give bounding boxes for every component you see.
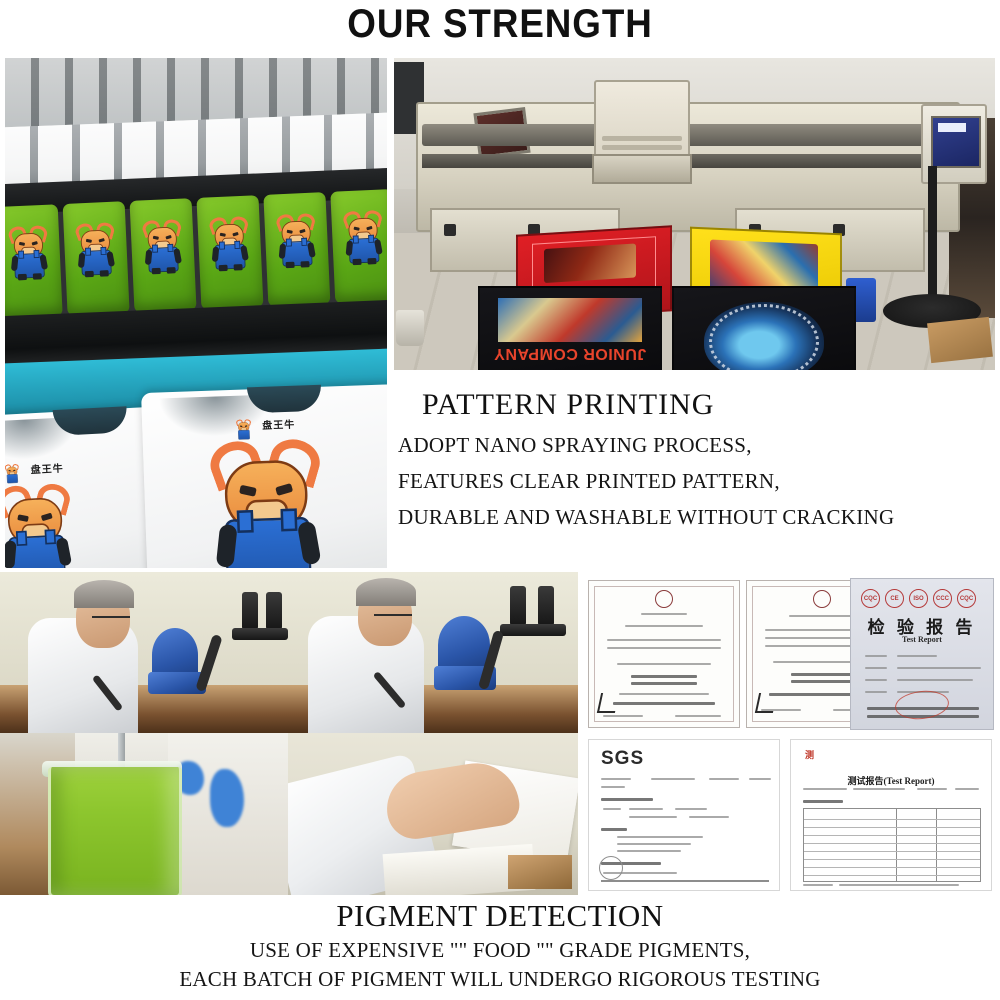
green-platen: [129, 198, 196, 313]
test-report-title-en: Test Report: [851, 635, 993, 644]
platen-shirt-sharks: SHARKS: [672, 286, 856, 370]
pattern-printing-line-2: FEATURES CLEAR PRINTED PATTERN,: [398, 469, 998, 494]
sgs-logo: SGS: [601, 748, 644, 770]
bull-mascot-icon: [275, 213, 318, 268]
badge-cqc-icon: CQC: [861, 589, 880, 608]
green-platen: [196, 195, 263, 310]
bull-mascot-icon: 盘王牛: [207, 439, 327, 568]
bull-mascot-icon: [74, 222, 117, 277]
blue-object: [210, 769, 244, 827]
pattern-printing-line-1: ADOPT NANO SPRAYING PROCESS,: [398, 433, 998, 458]
lab-rail: [232, 628, 288, 640]
lab-fixture: [510, 586, 526, 626]
screen-printing-carousel-photo: 盘王牛 盘王牛: [5, 58, 387, 568]
certificates-panel: CQC CE ISO CCC CQC 检 验 报 告 Test Report: [580, 572, 1000, 734]
shirt-brand-strip: 盘王牛: [10, 460, 64, 478]
cardboard-box: [927, 317, 993, 363]
pigment-detection-line-1: USE OF EXPENSIVE "" FOOD "" GRADE PIGMEN…: [0, 938, 1000, 963]
badge-iso-icon: ISO: [909, 589, 928, 608]
hd-logo-mark: 测: [805, 750, 814, 760]
pigment-detection-block: PIGMENT DETECTION USE OF EXPENSIVE "" FO…: [0, 898, 1000, 992]
green-platen: [263, 192, 330, 307]
green-platen: [330, 189, 387, 304]
lab-technician-right-photo: [288, 572, 578, 734]
pigment-detection-heading: PIGMENT DETECTION: [0, 898, 1000, 934]
badge-ccc-icon: CCC: [933, 589, 952, 608]
hd-report-title: 测试报告(Test Report): [791, 774, 991, 787]
pigment-beaker: [48, 767, 182, 895]
pattern-printing-heading: PATTERN PRINTING: [398, 388, 998, 422]
technician-glasses: [374, 614, 412, 623]
junior-artwork: [498, 298, 642, 342]
lab-rail: [500, 624, 566, 636]
shirt-brand-text: 盘王牛: [262, 416, 296, 432]
green-platen: [62, 201, 129, 316]
lab-fixture: [538, 586, 554, 626]
badge-cqc2-icon: CQC: [957, 589, 976, 608]
shirt-brand-text: 盘王牛: [30, 460, 64, 477]
sgs-test-report: SGS: [588, 739, 780, 891]
shirt-shadow: [5, 417, 81, 463]
page-title: OUR STRENGTH: [40, 2, 960, 47]
green-pigment-beaker-photo: [0, 733, 290, 895]
bull-mascot-icon: [7, 225, 50, 280]
bull-mascot-icon: [141, 219, 184, 274]
green-platen: [5, 204, 62, 319]
dtg-printer-photo: JUNIOR COMPANY SHARKS: [394, 58, 995, 370]
bull-mascot-icon: [10, 464, 12, 466]
bench-block: [508, 855, 572, 889]
certificate-of-approval: [588, 580, 740, 728]
lab-technician-left-photo: [0, 572, 290, 734]
hd-test-report: 测 测试报告(Test Report): [790, 739, 992, 891]
junior-company-print: JUNIOR COMPANY: [480, 346, 660, 361]
infographic-page: OUR STRENGTH: [0, 0, 1000, 1000]
platen-shirt-junior: JUNIOR COMPANY: [478, 286, 662, 370]
document-handling-photo: [288, 733, 578, 895]
lab-fixture: [266, 592, 282, 630]
printed-tshirt: 盘王牛 盘王牛: [141, 383, 387, 568]
technician-hair: [356, 578, 416, 606]
shark-ring-decoration: [709, 304, 819, 370]
test-reports-panel: SGS 测 测试报告(Test Rep: [580, 733, 1000, 895]
inspection-test-report: CQC CE ISO CCC CQC 检 验 报 告 Test Report: [850, 578, 994, 730]
results-table: [803, 808, 981, 882]
lcd-screen[interactable]: [931, 116, 981, 168]
shirt-brand-strip: 盘王牛: [242, 416, 295, 433]
paint-bucket: [396, 310, 424, 346]
technician-hair: [74, 580, 134, 608]
technician-glasses: [92, 616, 130, 625]
bull-mascot-icon: [5, 483, 76, 568]
badge-ce-icon: CE: [885, 589, 904, 608]
pattern-printing-line-3: DURABLE AND WASHABLE WITHOUT CRACKING: [398, 505, 998, 530]
pigment-detection-line-2: EACH BATCH OF PIGMENT WILL UNDERGO RIGOR…: [0, 967, 1000, 992]
bull-mascot-icon: [208, 216, 251, 271]
hd-logo: 测: [805, 748, 814, 772]
certification-badges: CQC CE ISO CCC CQC: [861, 589, 976, 608]
green-platen-row: [5, 189, 387, 319]
bull-mascot-icon: [242, 419, 245, 421]
pattern-printing-block: PATTERN PRINTING ADOPT NANO SPRAYING PRO…: [398, 388, 998, 530]
lab-fixture: [242, 592, 258, 630]
sgs-stamp: [599, 856, 623, 880]
bull-mascot-icon: [341, 210, 384, 265]
print-head: [592, 154, 692, 184]
